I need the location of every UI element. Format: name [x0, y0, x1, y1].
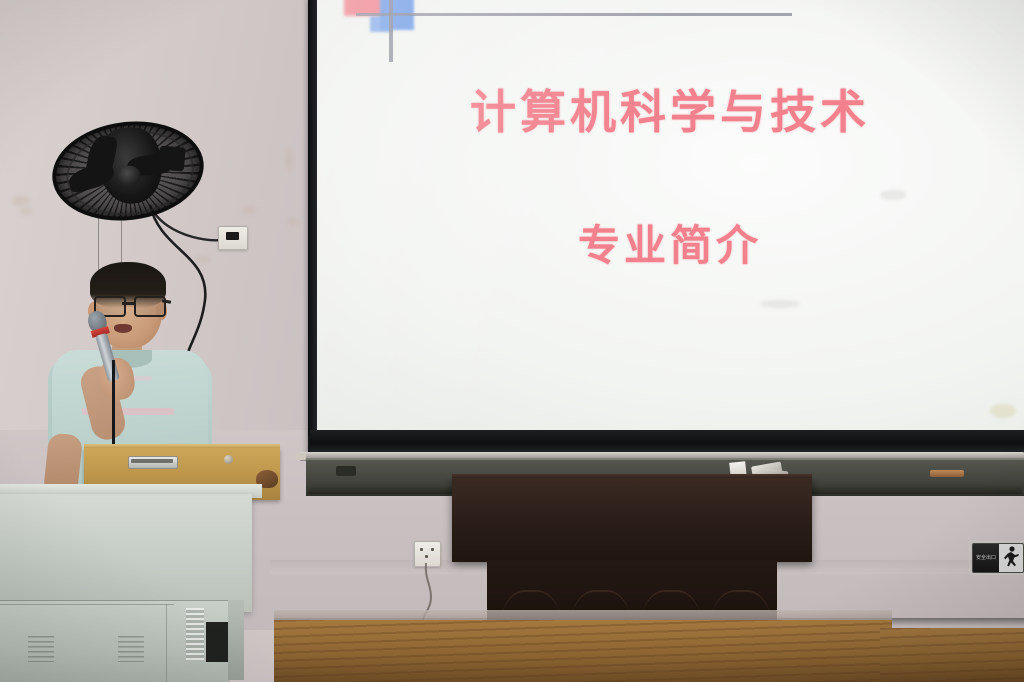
- lecture-hall-photo: 计算机科学与技术 专业简介: [0, 0, 1024, 682]
- screen-blemish: [990, 404, 1016, 418]
- outlet-hole: [431, 548, 434, 551]
- slide-content: 计算机科学与技术 专业简介: [316, 0, 1024, 434]
- running-man-icon: [999, 544, 1023, 572]
- screen-blemish: [880, 190, 906, 200]
- wall-fan[interactable]: [47, 113, 210, 229]
- whiteboard-marker: [930, 470, 964, 477]
- screen-bottom-border: [310, 430, 1024, 452]
- slide-title: 计算机科学与技术: [316, 76, 1024, 142]
- eyebrow-left: [96, 291, 120, 294]
- eyebrow-right: [136, 291, 160, 294]
- cabinet-vent-louver: [118, 636, 144, 662]
- screen-left-edge: [308, 0, 317, 436]
- emergency-exit-sign: 安全出口: [972, 543, 1024, 573]
- wall-power-outlet[interactable]: [414, 541, 441, 567]
- mouth: [114, 324, 132, 333]
- outlet-hole: [425, 555, 428, 558]
- wall-switch-plate[interactable]: [218, 226, 248, 250]
- lectern-desktop: [452, 478, 812, 562]
- podium-knob[interactable]: [224, 455, 233, 464]
- screen-blemish: [760, 300, 800, 308]
- outlet-hole: [420, 548, 423, 551]
- wall-smudge: [288, 218, 298, 226]
- deco-vertical-line: [389, 0, 393, 62]
- wall-smudge: [20, 208, 32, 215]
- floor-right-section: [880, 628, 1024, 682]
- slide-subtitle: 专业简介: [316, 212, 1024, 273]
- glasses-bridge: [122, 302, 134, 305]
- wall-smudge: [12, 196, 30, 206]
- podium-handle-slot: [131, 459, 173, 463]
- running-man-glyph: [999, 544, 1023, 572]
- exit-sign-text: 安全出口: [973, 555, 999, 561]
- equipment-cabinet[interactable]: [0, 494, 252, 612]
- whiteboard-eraser: [336, 466, 356, 476]
- cabinet-door-seam: [0, 604, 174, 605]
- switch-toggle[interactable]: [226, 232, 239, 240]
- cabinet-door-seam: [166, 604, 167, 682]
- screen-bar-tip: [296, 453, 306, 460]
- deco-horizontal-line: [356, 13, 792, 16]
- fan-wall-mount: [158, 145, 186, 171]
- cabinet-side-panel: [228, 600, 244, 680]
- slide-decoration: [344, 0, 474, 82]
- wall-smudge: [242, 206, 256, 214]
- cabinet-vent-louver: [28, 636, 54, 662]
- wall-smudge: [285, 148, 292, 170]
- stage-floor: [274, 620, 892, 682]
- cabinet-side-vent: [186, 608, 204, 660]
